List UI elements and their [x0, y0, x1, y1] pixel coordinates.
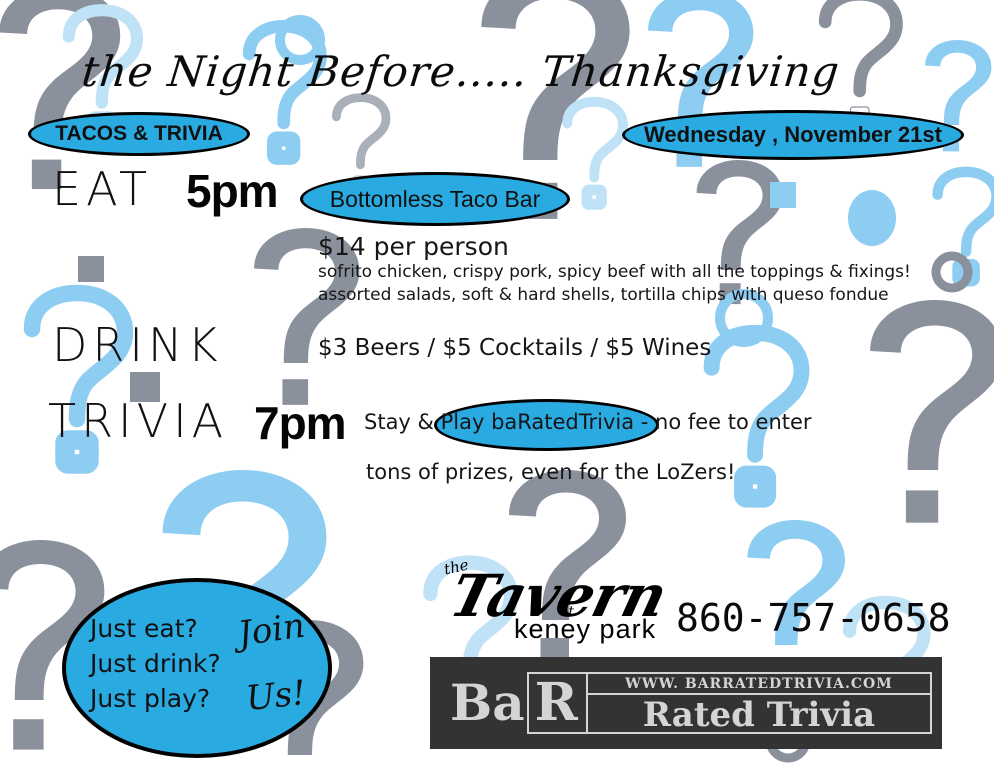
trivia-details-line: Stay & Play baRatedTrivia - no fee to en…: [364, 410, 812, 434]
bar-logo-ba: Ba: [450, 678, 525, 728]
join-question-2: Just drink?: [90, 649, 221, 678]
section-label-drink: DRINK: [52, 318, 223, 372]
trivia-prizes-line: tons of prizes, even for the LoZers!: [366, 460, 735, 484]
join-us-text: Join Us!: [238, 610, 306, 716]
badge-bottomless-taco-bar-label: Bottomless Taco Bar: [330, 186, 541, 213]
page-title: the Night Before..... Thanksgiving: [79, 47, 842, 96]
bar-logo-r-box: R: [527, 672, 588, 734]
tavern-logo: the Tavern at keney park: [438, 556, 668, 648]
join-question-1: Just eat?: [90, 614, 221, 643]
join-word-us: Us!: [244, 673, 308, 719]
phone-number[interactable]: 860-757-0658: [676, 596, 951, 640]
badge-event-date: Wednesday , November 21st: [622, 110, 964, 160]
section-label-trivia: TRIVIA: [48, 394, 228, 448]
tavern-logo-park: keney park: [514, 614, 656, 645]
badge-event-date-label: Wednesday , November 21st: [644, 122, 942, 148]
bar-logo-r: R: [535, 677, 578, 729]
menu-price: $14 per person: [318, 232, 509, 261]
join-word-join: Join: [236, 605, 309, 654]
badge-join-us: Just eat? Just drink? Just play? Join Us…: [62, 578, 332, 758]
badge-tacos-trivia: TACOS & TRIVIA: [28, 112, 250, 156]
bar-rated-trivia-logo: Ba R WWW. BARRATEDTRIVIA.COM Rated Trivi…: [430, 657, 942, 749]
flyer-canvas: the Night Before..... Thanksgiving TACOS…: [0, 0, 994, 768]
trivia-suffix: - no fee to enter: [634, 410, 811, 434]
bar-logo-website[interactable]: WWW. BARRATEDTRIVIA.COM: [588, 674, 930, 695]
join-question-3: Just play?: [90, 684, 221, 713]
join-questions: Just eat? Just drink? Just play?: [90, 614, 221, 713]
section-time-trivia: 7pm: [254, 396, 346, 450]
bar-logo-rated-trivia: Rated Trivia: [588, 695, 930, 735]
menu-line-1: sofrito chicken, crispy pork, spicy beef…: [318, 262, 911, 282]
badge-tacos-trivia-label: TACOS & TRIVIA: [55, 122, 223, 146]
trivia-brand: baRatedTrivia: [491, 410, 634, 434]
section-label-eat: EAT: [52, 162, 152, 216]
drink-specials: $3 Beers / $5 Cocktails / $5 Wines: [318, 335, 711, 361]
bar-logo-right-block: WWW. BARRATEDTRIVIA.COM Rated Trivia: [588, 672, 932, 734]
badge-bottomless-taco-bar: Bottomless Taco Bar: [300, 172, 570, 226]
section-time-eat: 5pm: [186, 164, 278, 218]
menu-line-2: assorted salads, soft & hard shells, tor…: [318, 285, 889, 305]
trivia-prefix: Stay & Play: [364, 410, 491, 434]
